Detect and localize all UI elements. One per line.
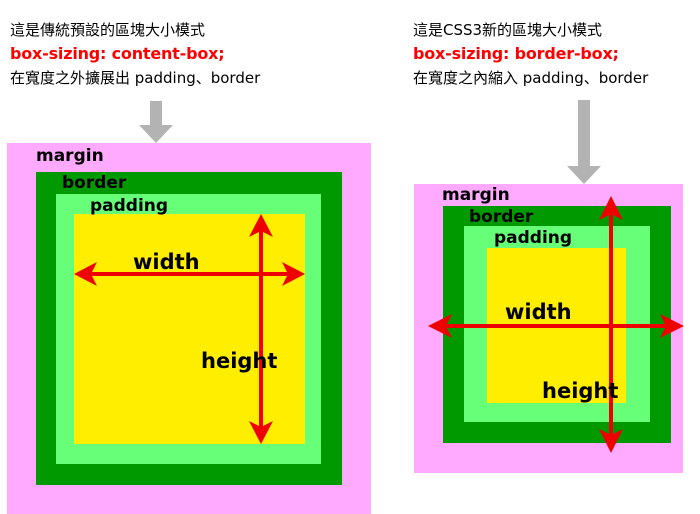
right-caption-code: box-sizing: border-box; [413,42,648,66]
left-caption-line-3: 在寬度之外擴展出 padding、border [10,66,260,90]
down-arrow-icon-left [139,101,173,143]
left-caption-block: 這是傳統預設的區塊大小模式 box-sizing: content-box; 在… [10,18,260,90]
height-label: height [201,350,277,373]
width-label: width [133,251,200,274]
right-caption-block: 這是CSS3新的區塊大小模式 box-sizing: border-box; 在… [413,18,648,90]
border-label: border [62,174,126,193]
width-label: width [505,301,572,324]
left-caption-code: box-sizing: content-box; [10,42,260,66]
right-caption-line-1: 這是CSS3新的區塊大小模式 [413,18,648,42]
left-caption-line-1: 這是傳統預設的區塊大小模式 [10,18,260,42]
right-caption-line-3: 在寬度之內縮入 padding、border [413,66,648,90]
margin-label: margin [36,147,104,166]
padding-label: padding [90,197,168,216]
padding-label: padding [494,229,572,248]
content-box-diagram: margin border padding width height [7,143,371,514]
border-box-diagram: margin border padding width height [414,184,683,473]
diagram-canvas: 這是傳統預設的區塊大小模式 box-sizing: content-box; 在… [0,0,700,514]
down-arrow-icon-right [567,100,601,184]
border-label: border [469,208,533,227]
height-label: height [542,380,618,403]
margin-label: margin [442,186,510,205]
dimension-arrows [7,143,371,514]
